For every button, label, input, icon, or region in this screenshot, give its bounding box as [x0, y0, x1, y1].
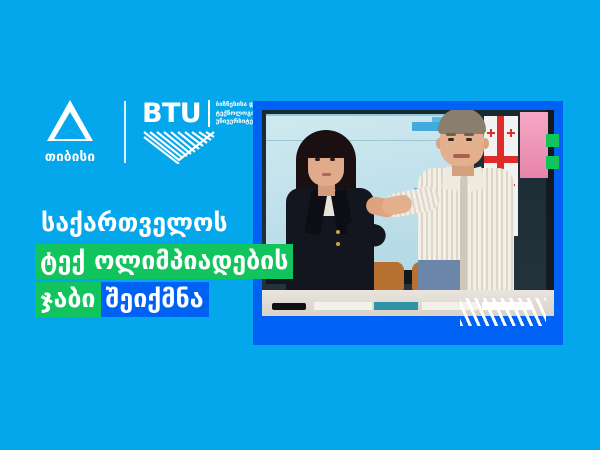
- logo-divider: [124, 101, 126, 163]
- man-eye: [448, 138, 454, 141]
- man-shirt-placket: [460, 174, 467, 290]
- announcement-banner: თიბისი BTU ბიზნესისა და ტექნოლოგიების უნ…: [0, 0, 600, 450]
- hand-right: [381, 194, 414, 217]
- woman-eye: [330, 158, 335, 161]
- man-mouth: [453, 154, 470, 158]
- man-trousers: [418, 260, 464, 290]
- diagonal-stripes-decoration: [460, 298, 546, 326]
- headline-line-2: ტექ ოლიმპიადების: [35, 244, 366, 279]
- wall-panel-pink: [520, 112, 548, 178]
- logo-bar: თიბისი BTU ბიზნესისა და ტექნოლოგიების უნ…: [34, 96, 268, 168]
- btu-logo: BTU ბიზნესისა და ტექნოლოგიების უნივერსიტ…: [142, 100, 268, 164]
- headline-line-3: ჯაბიშეიქმნა: [35, 282, 366, 317]
- woman-mouth: [322, 173, 331, 176]
- green-square-decoration: [546, 134, 559, 147]
- man-eyebrow: [464, 133, 474, 136]
- handshake: [366, 194, 412, 220]
- man-eyebrow: [446, 133, 456, 136]
- headline-line-1: საქართველოს: [36, 206, 366, 241]
- woman-hair-front: [304, 134, 348, 158]
- woman-eye: [315, 158, 320, 161]
- headline-text-2: ტექ ოლიმპიადების: [35, 244, 293, 279]
- tbc-logo: თიბისი: [34, 99, 106, 165]
- person-man: [412, 110, 518, 290]
- table-item-folder: [374, 302, 418, 310]
- green-square-decoration: [546, 156, 559, 169]
- headline-text-1: საქართველოს: [36, 206, 233, 241]
- headline-text-3a: ჯაბი: [35, 282, 101, 317]
- tbc-triangle-icon: [45, 99, 95, 143]
- btu-letters: BTU: [142, 100, 201, 127]
- headline-text-3b: შეიქმნა: [101, 282, 209, 317]
- headline: საქართველოს ტექ ოლიმპიადების ჯაბიშეიქმნა: [36, 206, 366, 320]
- man-eye: [466, 138, 472, 141]
- tbc-wordmark: თიბისი: [45, 149, 95, 165]
- btu-rule: [208, 100, 210, 127]
- btu-chevron-stack-icon: [142, 130, 216, 164]
- man-hair: [438, 110, 486, 134]
